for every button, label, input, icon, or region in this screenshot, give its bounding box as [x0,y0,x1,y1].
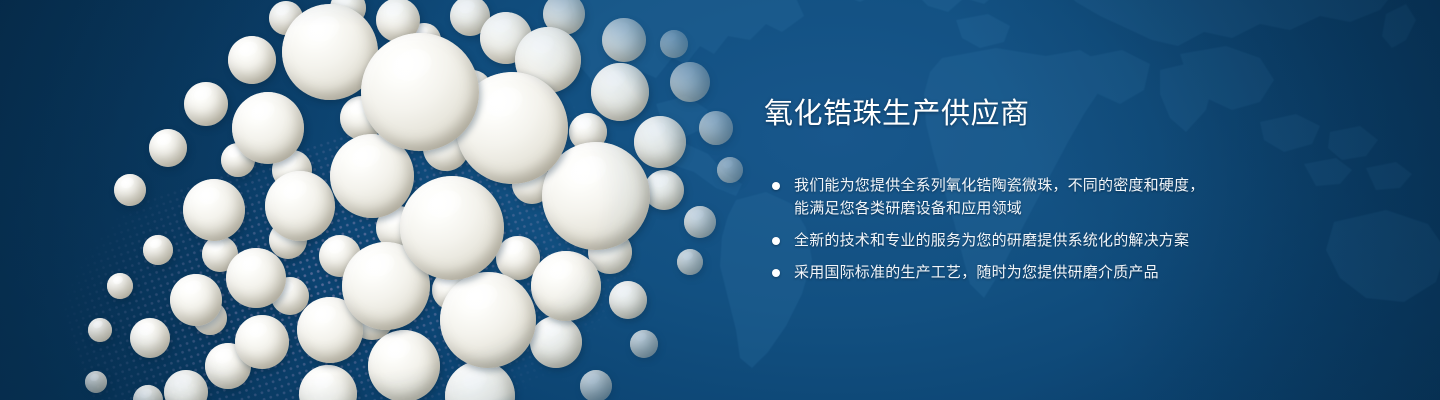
bead [170,274,222,326]
bead [85,371,107,393]
bead [717,157,743,183]
banner-feature-list: 我们能为您提供全系列氧化锆陶瓷微珠，不同的密度和硬度， 能满足您各类研磨设备和应… [764,174,1324,284]
bead [630,330,658,358]
bead [699,111,733,145]
bead [133,385,163,400]
bead [670,62,710,102]
bead [580,370,612,400]
bead [530,316,582,368]
banner-headline: 氧化锆珠生产供应商 [764,98,1324,132]
bead [130,318,170,358]
bead [107,273,133,299]
bead [660,30,688,58]
bead [114,174,146,206]
bead [634,116,686,168]
bead [400,176,504,280]
bullet-text-line1: 我们能为您提供全系列氧化锆陶瓷微珠，不同的密度和硬度， [794,174,1324,197]
bead [149,129,187,167]
bead [226,248,286,308]
bead [440,272,536,368]
bullet-text-line2: 能满足您各类研磨设备和应用领域 [794,197,1324,220]
bead [602,18,646,62]
bead [609,281,647,319]
banner-text-block: 氧化锆珠生产供应商 我们能为您提供全系列氧化锆陶瓷微珠，不同的密度和硬度， 能满… [764,98,1324,284]
bead [361,33,479,151]
bead [684,206,716,238]
hero-banner: 氧化锆珠生产供应商 我们能为您提供全系列氧化锆陶瓷微珠，不同的密度和硬度， 能满… [0,0,1440,400]
bullet-dot-icon [772,237,780,245]
bullet-text-line1: 采用国际标准的生产工艺，随时为您提供研磨介质产品 [794,261,1324,284]
bullet-dot-icon [772,269,780,277]
bead [235,315,289,369]
bead [644,170,684,210]
list-item: 采用国际标准的生产工艺，随时为您提供研磨介质产品 [764,261,1324,284]
bead [265,171,335,241]
list-item: 我们能为您提供全系列氧化锆陶瓷微珠，不同的密度和硬度， 能满足您各类研磨设备和应… [764,174,1324,220]
bullet-dot-icon [772,182,780,190]
bead [531,251,601,321]
bead [368,330,440,400]
bead [228,36,276,84]
bead [183,179,245,241]
bead [143,235,173,265]
bead [299,365,357,400]
bead [184,82,228,126]
list-item: 全新的技术和专业的服务为您的研磨提供系统化的解决方案 [764,229,1324,252]
bead [591,63,649,121]
bead [164,370,208,400]
bead [677,249,703,275]
zirconia-beads-image [0,0,760,400]
bead [232,92,304,164]
bead [88,318,112,342]
bullet-text-line1: 全新的技术和专业的服务为您的研磨提供系统化的解决方案 [794,229,1324,252]
